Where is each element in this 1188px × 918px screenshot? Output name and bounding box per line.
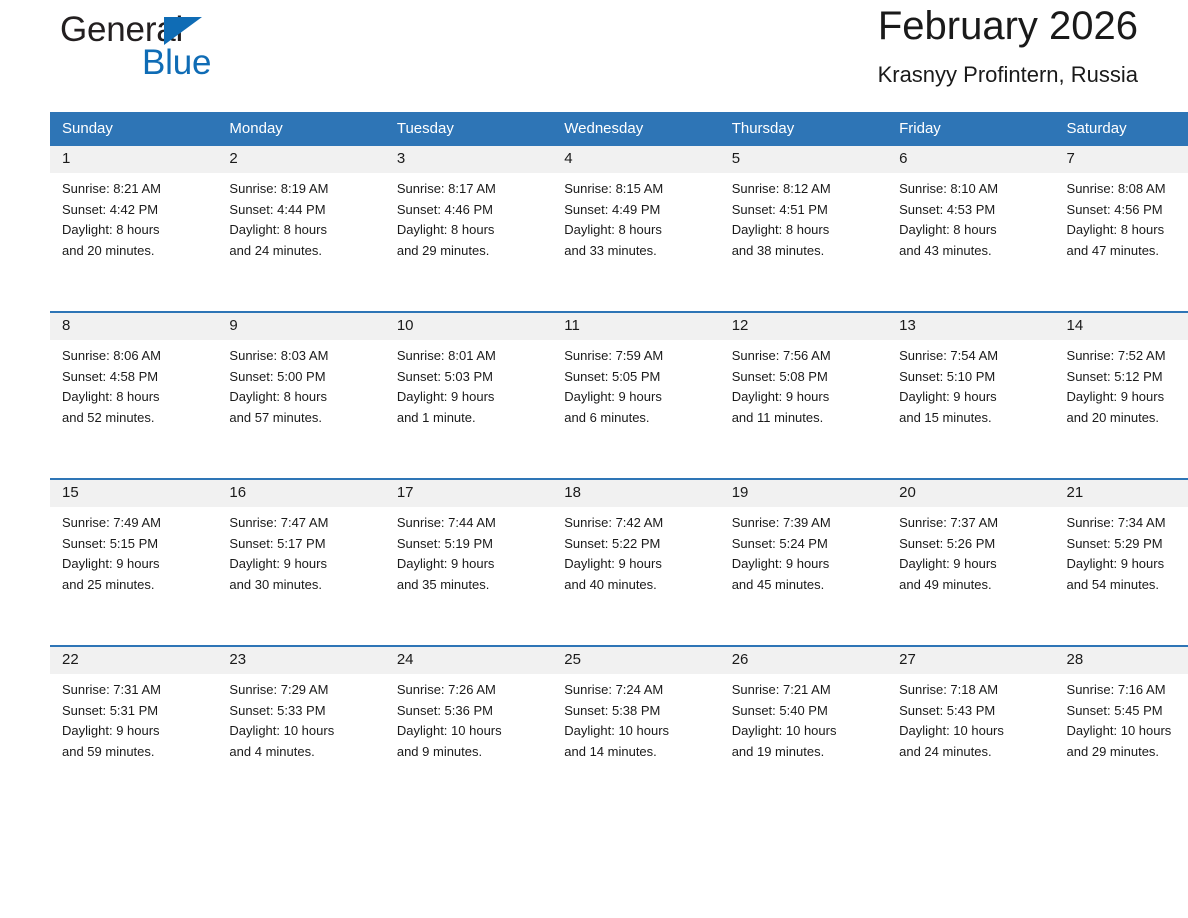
daylight-text-line1: Daylight: 8 hours — [62, 387, 207, 408]
daylight-text-line2: and 52 minutes. — [62, 408, 207, 429]
sunrise-text: Sunrise: 7:31 AM — [62, 680, 207, 701]
daylight-text-line1: Daylight: 9 hours — [397, 554, 542, 575]
daylight-text-line1: Daylight: 9 hours — [229, 554, 374, 575]
sunrise-text: Sunrise: 7:47 AM — [229, 513, 374, 534]
sunset-text: Sunset: 5:17 PM — [229, 534, 374, 555]
day-number-band: 19 — [720, 480, 887, 507]
day-cell[interactable]: 11 Sunrise: 7:59 AM Sunset: 5:05 PM Dayl… — [552, 312, 719, 479]
weekday-thursday: Thursday — [720, 112, 887, 146]
day-cell[interactable]: 22 Sunrise: 7:31 AM Sunset: 5:31 PM Dayl… — [50, 646, 217, 812]
daylight-text-line2: and 1 minute. — [397, 408, 542, 429]
day-number-band: 5 — [720, 146, 887, 173]
sunrise-text: Sunrise: 8:01 AM — [397, 346, 542, 367]
sunset-text: Sunset: 5:33 PM — [229, 701, 374, 722]
sunrise-text: Sunrise: 7:18 AM — [899, 680, 1044, 701]
sunset-text: Sunset: 4:44 PM — [229, 200, 374, 221]
daylight-text-line1: Daylight: 10 hours — [564, 721, 709, 742]
day-info: Sunrise: 7:31 AM Sunset: 5:31 PM Dayligh… — [50, 674, 217, 762]
day-number-band: 16 — [217, 480, 384, 507]
day-number-band: 13 — [887, 313, 1054, 340]
daylight-text-line2: and 15 minutes. — [899, 408, 1044, 429]
day-info: Sunrise: 8:12 AM Sunset: 4:51 PM Dayligh… — [720, 173, 887, 261]
sunset-text: Sunset: 4:56 PM — [1067, 200, 1188, 221]
day-number: 4 — [564, 150, 572, 167]
day-info: Sunrise: 7:52 AM Sunset: 5:12 PM Dayligh… — [1055, 340, 1188, 428]
sunset-text: Sunset: 5:38 PM — [564, 701, 709, 722]
day-number: 3 — [397, 150, 405, 167]
daylight-text-line2: and 35 minutes. — [397, 575, 542, 596]
sunset-text: Sunset: 4:58 PM — [62, 367, 207, 388]
day-cell[interactable]: 16 Sunrise: 7:47 AM Sunset: 5:17 PM Dayl… — [217, 479, 384, 646]
daylight-text-line1: Daylight: 8 hours — [229, 220, 374, 241]
calendar-page: General Blue February 2026 Krasnyy Profi… — [0, 0, 1188, 918]
day-number: 12 — [732, 317, 749, 334]
page-header: General Blue February 2026 Krasnyy Profi… — [50, 0, 1138, 112]
day-cell[interactable]: 20 Sunrise: 7:37 AM Sunset: 5:26 PM Dayl… — [887, 479, 1054, 646]
day-info: Sunrise: 7:54 AM Sunset: 5:10 PM Dayligh… — [887, 340, 1054, 428]
day-number: 10 — [397, 317, 414, 334]
day-number-band: 21 — [1055, 480, 1188, 507]
daylight-text-line2: and 25 minutes. — [62, 575, 207, 596]
daylight-text-line2: and 11 minutes. — [732, 408, 877, 429]
day-number-band: 14 — [1055, 313, 1188, 340]
sunrise-text: Sunrise: 8:17 AM — [397, 179, 542, 200]
daylight-text-line1: Daylight: 10 hours — [899, 721, 1044, 742]
day-number-band: 2 — [217, 146, 384, 173]
day-number-band: 4 — [552, 146, 719, 173]
day-number: 25 — [564, 651, 581, 668]
brand-logo: General Blue — [60, 10, 320, 100]
day-cell[interactable]: 13 Sunrise: 7:54 AM Sunset: 5:10 PM Dayl… — [887, 312, 1054, 479]
sunrise-text: Sunrise: 8:19 AM — [229, 179, 374, 200]
day-number-band: 20 — [887, 480, 1054, 507]
daylight-text-line1: Daylight: 9 hours — [564, 554, 709, 575]
day-info: Sunrise: 7:34 AM Sunset: 5:29 PM Dayligh… — [1055, 507, 1188, 595]
day-number: 26 — [732, 651, 749, 668]
day-number: 28 — [1067, 651, 1084, 668]
daylight-text-line1: Daylight: 9 hours — [732, 387, 877, 408]
daylight-text-line1: Daylight: 9 hours — [899, 387, 1044, 408]
day-cell[interactable]: 21 Sunrise: 7:34 AM Sunset: 5:29 PM Dayl… — [1055, 479, 1188, 646]
sunset-text: Sunset: 5:05 PM — [564, 367, 709, 388]
daylight-text-line2: and 9 minutes. — [397, 742, 542, 763]
calendar-week-row: 22 Sunrise: 7:31 AM Sunset: 5:31 PM Dayl… — [50, 646, 1188, 812]
weekday-friday: Friday — [887, 112, 1054, 146]
day-info: Sunrise: 8:06 AM Sunset: 4:58 PM Dayligh… — [50, 340, 217, 428]
weekday-saturday: Saturday — [1055, 112, 1188, 146]
sunrise-text: Sunrise: 7:49 AM — [62, 513, 207, 534]
sunrise-text: Sunrise: 8:03 AM — [229, 346, 374, 367]
daylight-text-line1: Daylight: 9 hours — [397, 387, 542, 408]
day-cell[interactable]: 4 Sunrise: 8:15 AM Sunset: 4:49 PM Dayli… — [552, 146, 719, 312]
daylight-text-line1: Daylight: 10 hours — [397, 721, 542, 742]
weekday-wednesday: Wednesday — [552, 112, 719, 146]
day-info: Sunrise: 7:16 AM Sunset: 5:45 PM Dayligh… — [1055, 674, 1188, 762]
sunrise-text: Sunrise: 7:24 AM — [564, 680, 709, 701]
sunset-text: Sunset: 5:31 PM — [62, 701, 207, 722]
day-cell[interactable]: 26 Sunrise: 7:21 AM Sunset: 5:40 PM Dayl… — [720, 646, 887, 812]
daylight-text-line2: and 4 minutes. — [229, 742, 374, 763]
day-info: Sunrise: 7:21 AM Sunset: 5:40 PM Dayligh… — [720, 674, 887, 762]
day-cell[interactable]: 7 Sunrise: 8:08 AM Sunset: 4:56 PM Dayli… — [1055, 146, 1188, 312]
daylight-text-line1: Daylight: 8 hours — [229, 387, 374, 408]
day-info: Sunrise: 8:03 AM Sunset: 5:00 PM Dayligh… — [217, 340, 384, 428]
day-cell[interactable]: 2 Sunrise: 8:19 AM Sunset: 4:44 PM Dayli… — [217, 146, 384, 312]
sunrise-text: Sunrise: 8:12 AM — [732, 179, 877, 200]
day-number: 27 — [899, 651, 916, 668]
sunrise-text: Sunrise: 7:52 AM — [1067, 346, 1188, 367]
weekday-tuesday: Tuesday — [385, 112, 552, 146]
weekday-sunday: Sunday — [50, 112, 217, 146]
daylight-text-line1: Daylight: 9 hours — [1067, 387, 1188, 408]
calendar-table: Sunday Monday Tuesday Wednesday Thursday… — [50, 112, 1188, 812]
day-cell[interactable]: 17 Sunrise: 7:44 AM Sunset: 5:19 PM Dayl… — [385, 479, 552, 646]
day-info: Sunrise: 7:26 AM Sunset: 5:36 PM Dayligh… — [385, 674, 552, 762]
day-info: Sunrise: 8:21 AM Sunset: 4:42 PM Dayligh… — [50, 173, 217, 261]
day-cell[interactable]: 15 Sunrise: 7:49 AM Sunset: 5:15 PM Dayl… — [50, 479, 217, 646]
day-number: 20 — [899, 484, 916, 501]
sunset-text: Sunset: 5:36 PM — [397, 701, 542, 722]
daylight-text-line1: Daylight: 9 hours — [1067, 554, 1188, 575]
sunset-text: Sunset: 5:29 PM — [1067, 534, 1188, 555]
day-info: Sunrise: 7:37 AM Sunset: 5:26 PM Dayligh… — [887, 507, 1054, 595]
day-number-band: 8 — [50, 313, 217, 340]
day-cell[interactable]: 9 Sunrise: 8:03 AM Sunset: 5:00 PM Dayli… — [217, 312, 384, 479]
day-info: Sunrise: 7:24 AM Sunset: 5:38 PM Dayligh… — [552, 674, 719, 762]
daylight-text-line2: and 29 minutes. — [1067, 742, 1188, 763]
sunset-text: Sunset: 5:10 PM — [899, 367, 1044, 388]
day-number-band: 9 — [217, 313, 384, 340]
calendar-week-row: 8 Sunrise: 8:06 AM Sunset: 4:58 PM Dayli… — [50, 312, 1188, 479]
daylight-text-line2: and 29 minutes. — [397, 241, 542, 262]
day-cell[interactable]: 5 Sunrise: 8:12 AM Sunset: 4:51 PM Dayli… — [720, 146, 887, 312]
day-info: Sunrise: 7:47 AM Sunset: 5:17 PM Dayligh… — [217, 507, 384, 595]
day-number: 9 — [229, 317, 237, 334]
daylight-text-line2: and 38 minutes. — [732, 241, 877, 262]
day-cell[interactable]: 3 Sunrise: 8:17 AM Sunset: 4:46 PM Dayli… — [385, 146, 552, 312]
day-number: 5 — [732, 150, 740, 167]
sunrise-text: Sunrise: 7:37 AM — [899, 513, 1044, 534]
day-info: Sunrise: 8:15 AM Sunset: 4:49 PM Dayligh… — [552, 173, 719, 261]
daylight-text-line1: Daylight: 8 hours — [397, 220, 542, 241]
day-number: 19 — [732, 484, 749, 501]
sunset-text: Sunset: 4:42 PM — [62, 200, 207, 221]
day-info: Sunrise: 8:19 AM Sunset: 4:44 PM Dayligh… — [217, 173, 384, 261]
sunset-text: Sunset: 5:03 PM — [397, 367, 542, 388]
day-number-band: 10 — [385, 313, 552, 340]
sunrise-text: Sunrise: 7:59 AM — [564, 346, 709, 367]
daylight-text-line2: and 20 minutes. — [62, 241, 207, 262]
day-number-band: 12 — [720, 313, 887, 340]
weekday-monday: Monday — [217, 112, 384, 146]
daylight-text-line1: Daylight: 8 hours — [899, 220, 1044, 241]
daylight-text-line1: Daylight: 10 hours — [1067, 721, 1188, 742]
sunrise-text: Sunrise: 7:21 AM — [732, 680, 877, 701]
day-number: 7 — [1067, 150, 1075, 167]
day-number: 14 — [1067, 317, 1084, 334]
title-block: February 2026 Krasnyy Profintern, Russia — [438, 0, 1138, 90]
daylight-text-line2: and 14 minutes. — [564, 742, 709, 763]
day-cell[interactable]: 1 Sunrise: 8:21 AM Sunset: 4:42 PM Dayli… — [50, 146, 217, 312]
sunrise-text: Sunrise: 7:16 AM — [1067, 680, 1188, 701]
day-info: Sunrise: 7:29 AM Sunset: 5:33 PM Dayligh… — [217, 674, 384, 762]
day-number-band: 17 — [385, 480, 552, 507]
brand-name-blue: Blue — [142, 43, 211, 83]
page-title: February 2026 — [438, 0, 1138, 52]
day-info: Sunrise: 8:17 AM Sunset: 4:46 PM Dayligh… — [385, 173, 552, 261]
day-number: 22 — [62, 651, 79, 668]
sunrise-text: Sunrise: 8:21 AM — [62, 179, 207, 200]
daylight-text-line2: and 47 minutes. — [1067, 241, 1188, 262]
calendar-body: 1 Sunrise: 8:21 AM Sunset: 4:42 PM Dayli… — [50, 146, 1188, 812]
day-number-band: 22 — [50, 647, 217, 674]
day-number: 15 — [62, 484, 79, 501]
brand-triangle-icon — [164, 17, 202, 45]
daylight-text-line1: Daylight: 8 hours — [62, 220, 207, 241]
sunrise-text: Sunrise: 7:26 AM — [397, 680, 542, 701]
day-cell[interactable]: 8 Sunrise: 8:06 AM Sunset: 4:58 PM Dayli… — [50, 312, 217, 479]
day-number: 1 — [62, 150, 70, 167]
day-info: Sunrise: 7:39 AM Sunset: 5:24 PM Dayligh… — [720, 507, 887, 595]
sunrise-text: Sunrise: 8:10 AM — [899, 179, 1044, 200]
day-cell[interactable]: 6 Sunrise: 8:10 AM Sunset: 4:53 PM Dayli… — [887, 146, 1054, 312]
day-info: Sunrise: 7:59 AM Sunset: 5:05 PM Dayligh… — [552, 340, 719, 428]
sunset-text: Sunset: 4:46 PM — [397, 200, 542, 221]
weekday-header-row: Sunday Monday Tuesday Wednesday Thursday… — [50, 112, 1188, 146]
day-number-band: 27 — [887, 647, 1054, 674]
sunset-text: Sunset: 4:51 PM — [732, 200, 877, 221]
sunset-text: Sunset: 5:00 PM — [229, 367, 374, 388]
sunset-text: Sunset: 5:12 PM — [1067, 367, 1188, 388]
day-number-band: 25 — [552, 647, 719, 674]
day-number-band: 28 — [1055, 647, 1188, 674]
daylight-text-line1: Daylight: 10 hours — [229, 721, 374, 742]
day-cell[interactable]: 25 Sunrise: 7:24 AM Sunset: 5:38 PM Dayl… — [552, 646, 719, 812]
sunset-text: Sunset: 5:08 PM — [732, 367, 877, 388]
day-cell[interactable]: 27 Sunrise: 7:18 AM Sunset: 5:43 PM Dayl… — [887, 646, 1054, 812]
day-cell[interactable]: 28 Sunrise: 7:16 AM Sunset: 5:45 PM Dayl… — [1055, 646, 1188, 812]
sunset-text: Sunset: 5:43 PM — [899, 701, 1044, 722]
sunrise-text: Sunrise: 7:29 AM — [229, 680, 374, 701]
sunset-text: Sunset: 5:24 PM — [732, 534, 877, 555]
sunset-text: Sunset: 4:49 PM — [564, 200, 709, 221]
day-number-band: 26 — [720, 647, 887, 674]
daylight-text-line2: and 43 minutes. — [899, 241, 1044, 262]
day-number: 8 — [62, 317, 70, 334]
day-number: 24 — [397, 651, 414, 668]
daylight-text-line2: and 20 minutes. — [1067, 408, 1188, 429]
daylight-text-line2: and 54 minutes. — [1067, 575, 1188, 596]
day-number-band: 3 — [385, 146, 552, 173]
day-cell[interactable]: 24 Sunrise: 7:26 AM Sunset: 5:36 PM Dayl… — [385, 646, 552, 812]
day-number-band: 6 — [887, 146, 1054, 173]
day-cell[interactable]: 19 Sunrise: 7:39 AM Sunset: 5:24 PM Dayl… — [720, 479, 887, 646]
sunrise-text: Sunrise: 7:34 AM — [1067, 513, 1188, 534]
sunset-text: Sunset: 5:22 PM — [564, 534, 709, 555]
daylight-text-line2: and 24 minutes. — [229, 241, 374, 262]
day-number-band: 15 — [50, 480, 217, 507]
day-cell[interactable]: 18 Sunrise: 7:42 AM Sunset: 5:22 PM Dayl… — [552, 479, 719, 646]
day-cell[interactable]: 10 Sunrise: 8:01 AM Sunset: 5:03 PM Dayl… — [385, 312, 552, 479]
sunset-text: Sunset: 4:53 PM — [899, 200, 1044, 221]
day-number-band: 1 — [50, 146, 217, 173]
day-cell[interactable]: 12 Sunrise: 7:56 AM Sunset: 5:08 PM Dayl… — [720, 312, 887, 479]
day-number-band: 11 — [552, 313, 719, 340]
daylight-text-line2: and 24 minutes. — [899, 742, 1044, 763]
sunset-text: Sunset: 5:40 PM — [732, 701, 877, 722]
sunset-text: Sunset: 5:26 PM — [899, 534, 1044, 555]
sunrise-text: Sunrise: 8:15 AM — [564, 179, 709, 200]
day-cell[interactable]: 14 Sunrise: 7:52 AM Sunset: 5:12 PM Dayl… — [1055, 312, 1188, 479]
daylight-text-line2: and 40 minutes. — [564, 575, 709, 596]
daylight-text-line1: Daylight: 10 hours — [732, 721, 877, 742]
calendar-week-row: 1 Sunrise: 8:21 AM Sunset: 4:42 PM Dayli… — [50, 146, 1188, 312]
day-number: 23 — [229, 651, 246, 668]
day-cell[interactable]: 23 Sunrise: 7:29 AM Sunset: 5:33 PM Dayl… — [217, 646, 384, 812]
day-info: Sunrise: 7:49 AM Sunset: 5:15 PM Dayligh… — [50, 507, 217, 595]
sunrise-text: Sunrise: 7:56 AM — [732, 346, 877, 367]
day-number: 2 — [229, 150, 237, 167]
day-number-band: 24 — [385, 647, 552, 674]
sunrise-text: Sunrise: 7:54 AM — [899, 346, 1044, 367]
daylight-text-line2: and 49 minutes. — [899, 575, 1044, 596]
day-info: Sunrise: 7:44 AM Sunset: 5:19 PM Dayligh… — [385, 507, 552, 595]
daylight-text-line2: and 30 minutes. — [229, 575, 374, 596]
daylight-text-line2: and 57 minutes. — [229, 408, 374, 429]
day-number: 17 — [397, 484, 414, 501]
day-number-band: 7 — [1055, 146, 1188, 173]
daylight-text-line1: Daylight: 9 hours — [899, 554, 1044, 575]
daylight-text-line1: Daylight: 8 hours — [564, 220, 709, 241]
daylight-text-line1: Daylight: 8 hours — [1067, 220, 1188, 241]
sunrise-text: Sunrise: 8:06 AM — [62, 346, 207, 367]
day-number: 6 — [899, 150, 907, 167]
calendar-head: Sunday Monday Tuesday Wednesday Thursday… — [50, 112, 1188, 146]
daylight-text-line1: Daylight: 9 hours — [732, 554, 877, 575]
sunrise-text: Sunrise: 7:39 AM — [732, 513, 877, 534]
daylight-text-line2: and 59 minutes. — [62, 742, 207, 763]
calendar-week-row: 15 Sunrise: 7:49 AM Sunset: 5:15 PM Dayl… — [50, 479, 1188, 646]
daylight-text-line1: Daylight: 9 hours — [62, 721, 207, 742]
day-info: Sunrise: 8:01 AM Sunset: 5:03 PM Dayligh… — [385, 340, 552, 428]
day-number: 21 — [1067, 484, 1084, 501]
sunrise-text: Sunrise: 7:44 AM — [397, 513, 542, 534]
day-info: Sunrise: 7:42 AM Sunset: 5:22 PM Dayligh… — [552, 507, 719, 595]
daylight-text-line1: Daylight: 9 hours — [62, 554, 207, 575]
daylight-text-line2: and 19 minutes. — [732, 742, 877, 763]
day-number: 11 — [564, 317, 580, 334]
day-number: 16 — [229, 484, 246, 501]
daylight-text-line2: and 45 minutes. — [732, 575, 877, 596]
day-number: 18 — [564, 484, 581, 501]
sunrise-text: Sunrise: 7:42 AM — [564, 513, 709, 534]
sunset-text: Sunset: 5:15 PM — [62, 534, 207, 555]
daylight-text-line2: and 6 minutes. — [564, 408, 709, 429]
day-info: Sunrise: 8:10 AM Sunset: 4:53 PM Dayligh… — [887, 173, 1054, 261]
sunrise-text: Sunrise: 8:08 AM — [1067, 179, 1188, 200]
day-number: 13 — [899, 317, 916, 334]
daylight-text-line1: Daylight: 9 hours — [564, 387, 709, 408]
day-number-band: 18 — [552, 480, 719, 507]
sunset-text: Sunset: 5:19 PM — [397, 534, 542, 555]
day-info: Sunrise: 7:56 AM Sunset: 5:08 PM Dayligh… — [720, 340, 887, 428]
page-subtitle: Krasnyy Profintern, Russia — [438, 60, 1138, 90]
day-info: Sunrise: 8:08 AM Sunset: 4:56 PM Dayligh… — [1055, 173, 1188, 261]
day-number-band: 23 — [217, 647, 384, 674]
day-info: Sunrise: 7:18 AM Sunset: 5:43 PM Dayligh… — [887, 674, 1054, 762]
daylight-text-line1: Daylight: 8 hours — [732, 220, 877, 241]
daylight-text-line2: and 33 minutes. — [564, 241, 709, 262]
sunset-text: Sunset: 5:45 PM — [1067, 701, 1188, 722]
